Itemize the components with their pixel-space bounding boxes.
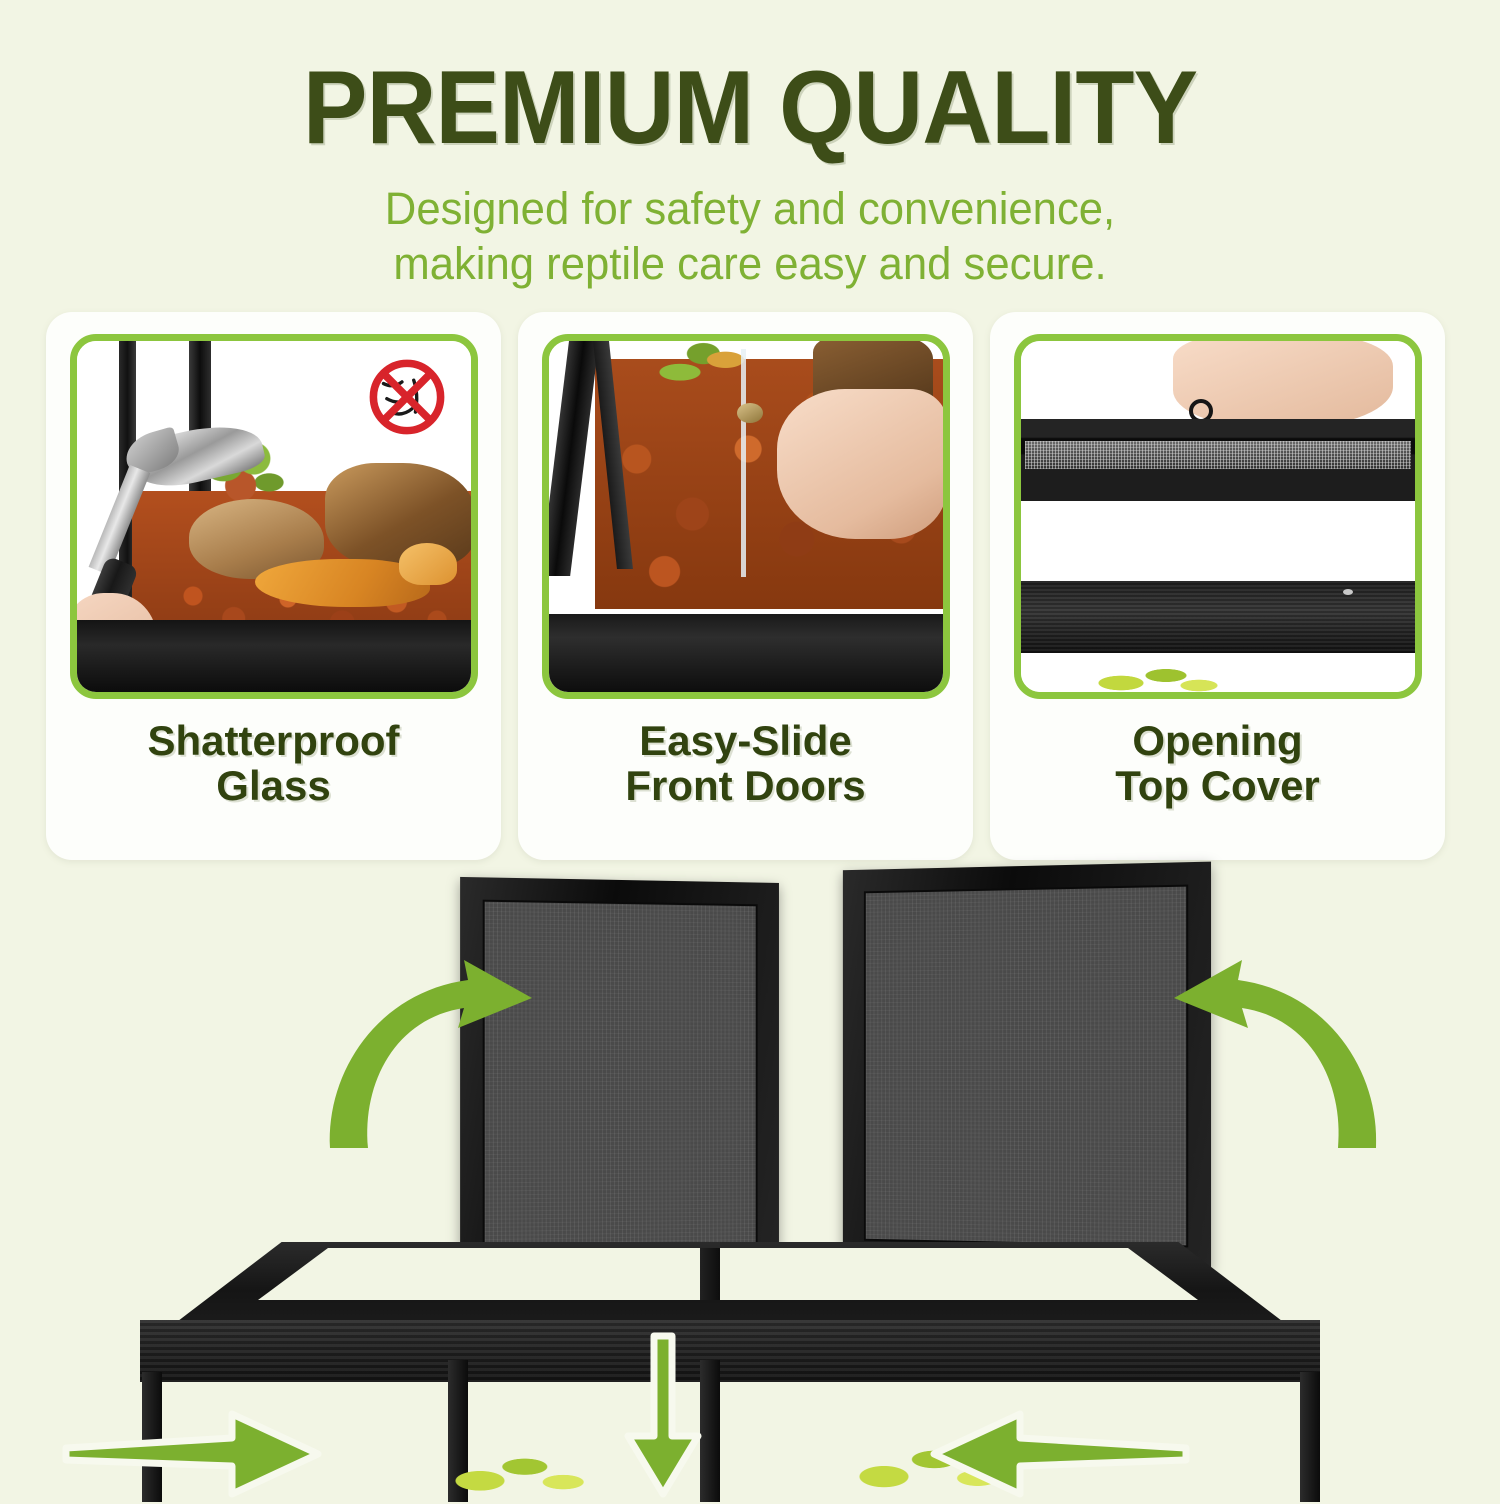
- arrow-slide-right: [62, 1404, 322, 1504]
- arrow-down: [598, 1332, 728, 1500]
- feature-label-shatterproof-glass: Shatterproof Glass: [148, 719, 400, 809]
- mesh-screen: [864, 885, 1188, 1248]
- tank-top-opening: [228, 1248, 1228, 1300]
- arrow-curve-left: [318, 952, 548, 1152]
- feature-photo-shatterproof-glass: [70, 334, 478, 699]
- subtitle-line-2: making reptile care easy and secure.: [23, 237, 1478, 292]
- arrow-curve-right: [1148, 952, 1388, 1152]
- tank-upper-rim: [140, 1320, 1320, 1382]
- tank-center-divider: [700, 1248, 720, 1300]
- feature-label-easy-slide-front-doors: Easy-Slide Front Doors: [625, 719, 865, 809]
- no-crack-icon: [365, 355, 449, 439]
- page-title: PREMIUM QUALITY: [53, 58, 1448, 160]
- arrow-slide-left: [930, 1404, 1190, 1504]
- header: PREMIUM QUALITY Designed for safety and …: [0, 0, 1500, 292]
- subtitle-line-1: Designed for safety and convenience,: [23, 182, 1478, 237]
- feature-photo-opening-top-cover: [1014, 334, 1422, 699]
- decor-plant-left: [432, 1436, 592, 1500]
- feature-card-easy-slide-front-doors[interactable]: Easy-Slide Front Doors: [518, 312, 973, 860]
- feature-label-opening-top-cover: Opening Top Cover: [1115, 719, 1320, 809]
- tank-corner-post-right: [1300, 1372, 1320, 1502]
- feature-card-opening-top-cover[interactable]: Opening Top Cover: [990, 312, 1445, 860]
- feature-card-shatterproof-glass[interactable]: Shatterproof Glass: [46, 312, 501, 860]
- feature-card-list: Shatterproof Glass Easy-Slide Front Door…: [46, 312, 1456, 860]
- feature-photo-easy-slide-front-doors: [542, 334, 950, 699]
